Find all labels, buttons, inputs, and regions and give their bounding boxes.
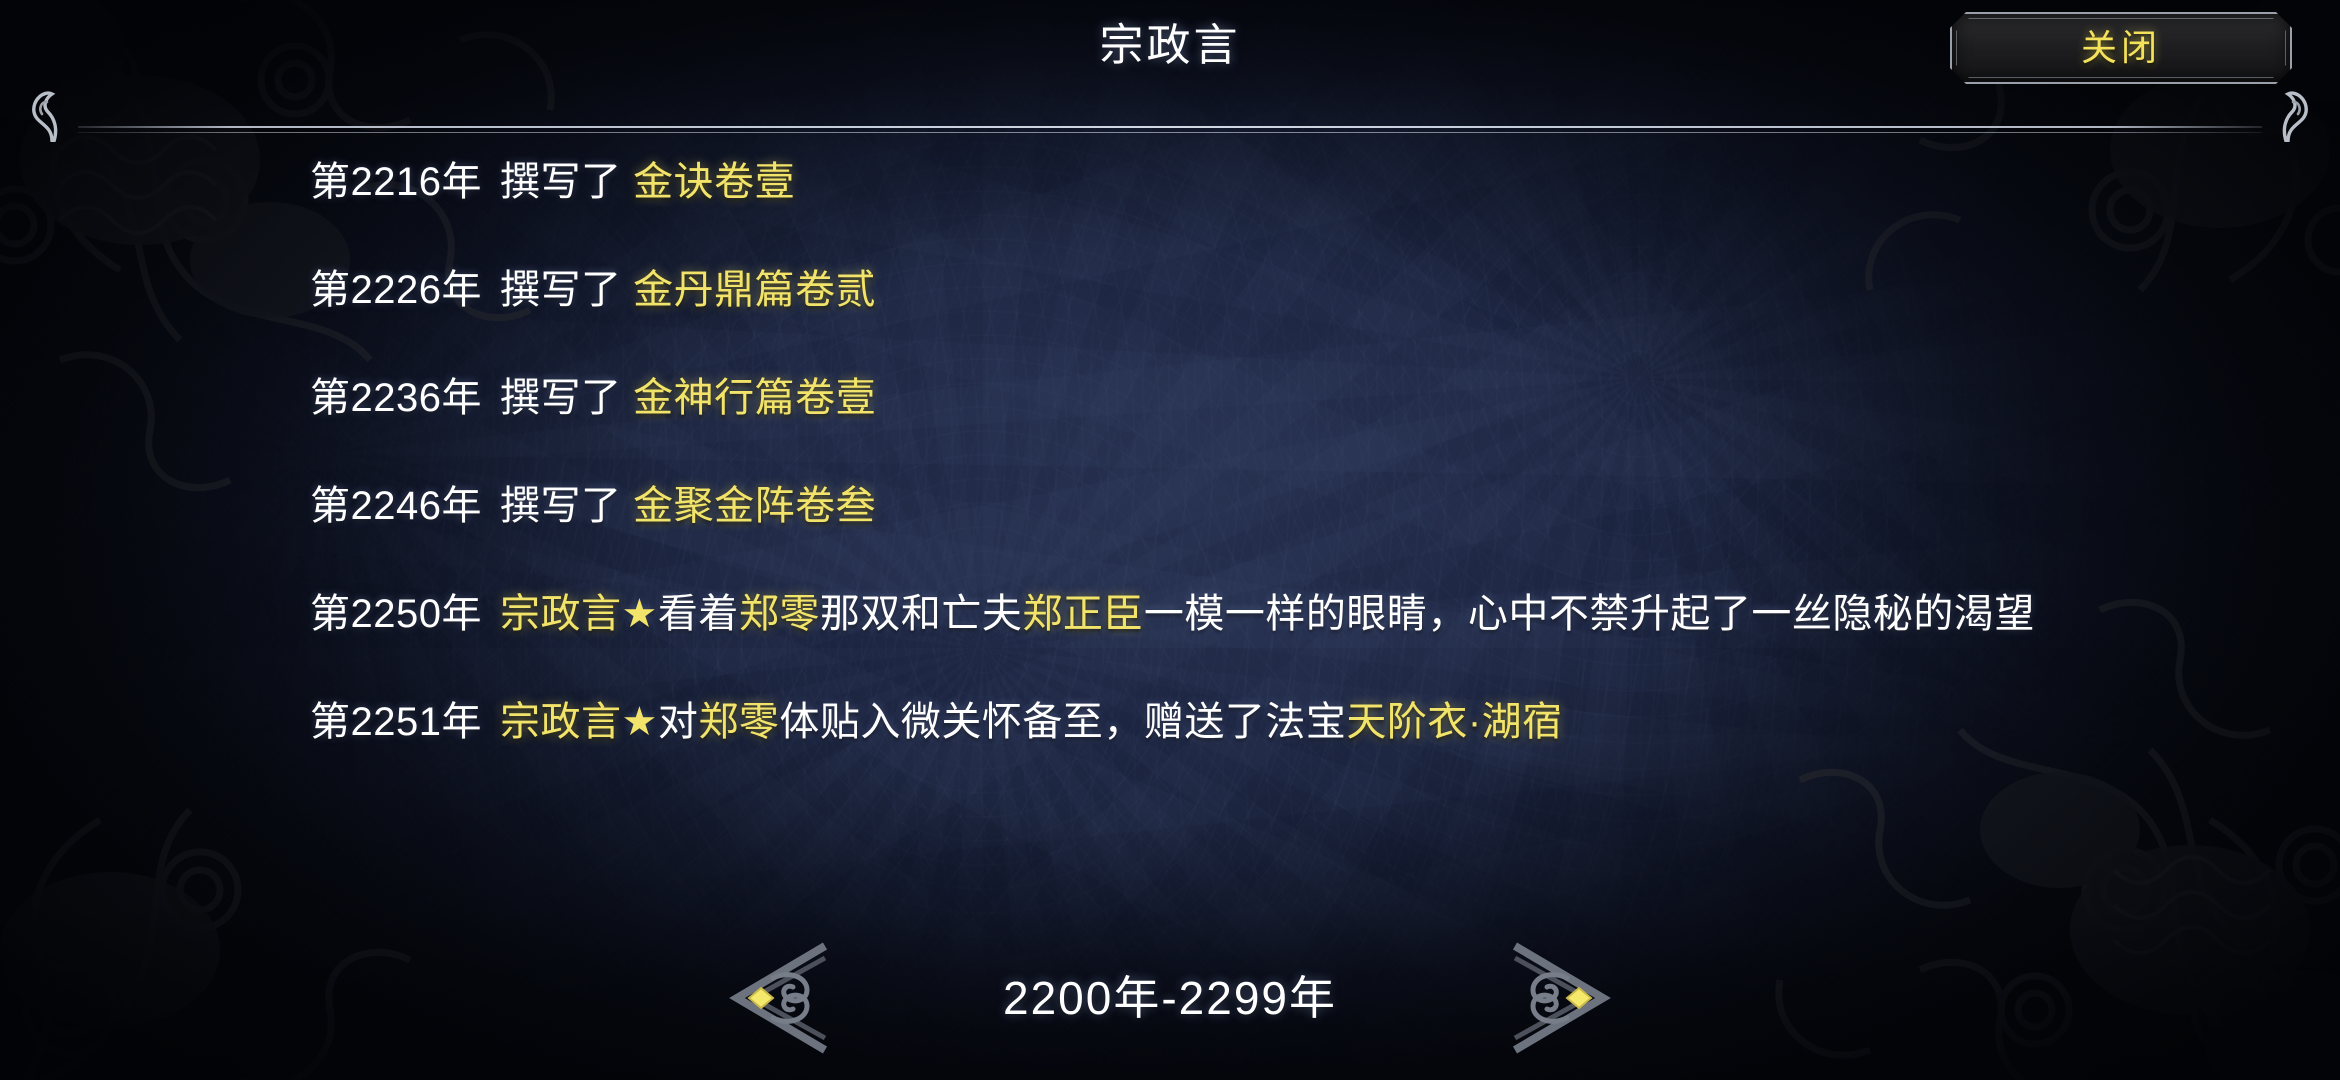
- entry-highlight-text: 天阶衣·湖宿: [1346, 700, 1562, 744]
- entry-highlight-text: 郑零: [698, 700, 779, 744]
- star-icon: ★: [621, 700, 657, 744]
- divider-line-upper: [78, 126, 2262, 128]
- entry-year: 第2246年: [310, 484, 482, 528]
- swirl-flourish-icon: [22, 84, 76, 142]
- timeline-entry: 第2251年宗政言★对郑零体贴入微关怀备至，赠送了法宝天阶衣·湖宿: [310, 692, 2080, 752]
- star-icon: ★: [621, 592, 657, 636]
- entry-text: 撰写了: [500, 160, 633, 204]
- entry-text: 撰写了: [500, 484, 633, 528]
- close-button[interactable]: 关闭: [1950, 12, 2292, 84]
- entry-text: 对: [658, 700, 699, 744]
- entry-highlight-text: 郑正臣: [1022, 592, 1144, 636]
- header-divider: [78, 126, 2262, 134]
- timeline-entry: 第2246年撰写了 金聚金阵卷叁: [310, 476, 2080, 536]
- entry-text: 撰写了: [500, 376, 633, 420]
- divider-line-lower: [78, 132, 2262, 133]
- entry-highlight-text: 宗政言: [500, 700, 622, 744]
- entry-year: 第2216年: [310, 160, 482, 204]
- chevron-right-ornate-icon[interactable]: [1487, 940, 1619, 1056]
- entry-text: 一模一样的眼睛，心中不禁升起了一丝隐秘的渴望: [1144, 592, 2035, 636]
- entry-highlight-text: 郑零: [739, 592, 820, 636]
- entry-year: 第2251年: [310, 700, 482, 744]
- entry-highlight-text: 金诀卷壹: [633, 160, 795, 204]
- entry-text: 那双和亡夫: [820, 592, 1023, 636]
- year-range-pager: 2200年-2299年: [0, 938, 2340, 1058]
- timeline-entry-list: 第2216年撰写了 金诀卷壹第2226年撰写了 金丹鼎篇卷贰第2236年撰写了 …: [310, 152, 2080, 752]
- timeline-entry: 第2226年撰写了 金丹鼎篇卷贰: [310, 260, 2080, 320]
- entry-highlight-text: 金聚金阵卷叁: [633, 484, 876, 528]
- timeline-entry: 第2250年宗政言★看着郑零那双和亡夫郑正臣一模一样的眼睛，心中不禁升起了一丝隐…: [310, 584, 2080, 644]
- entry-highlight-text: 金神行篇卷壹: [633, 376, 876, 420]
- entry-year: 第2250年: [310, 592, 482, 636]
- entry-text: 撰写了: [500, 268, 633, 312]
- close-button-label: 关闭: [2081, 28, 2161, 68]
- timeline-entry: 第2236年撰写了 金神行篇卷壹: [310, 368, 2080, 428]
- swirl-flourish-icon: [2264, 84, 2318, 142]
- entry-highlight-text: 金丹鼎篇卷贰: [633, 268, 876, 312]
- entry-year: 第2226年: [310, 268, 482, 312]
- entry-text: 体贴入微关怀备至，赠送了法宝: [779, 700, 1346, 744]
- entry-text: 看着: [658, 592, 739, 636]
- timeline-entry: 第2216年撰写了 金诀卷壹: [310, 152, 2080, 212]
- biography-timeline-panel: 宗政言 关闭 第2216年撰写了 金诀卷壹第2226年撰写了 金丹鼎篇卷贰第22…: [0, 0, 2340, 1080]
- entry-highlight-text: 宗政言: [500, 592, 622, 636]
- entry-year: 第2236年: [310, 376, 482, 420]
- year-range-label: 2200年-2299年: [1003, 970, 1337, 1026]
- chevron-left-ornate-icon[interactable]: [721, 940, 853, 1056]
